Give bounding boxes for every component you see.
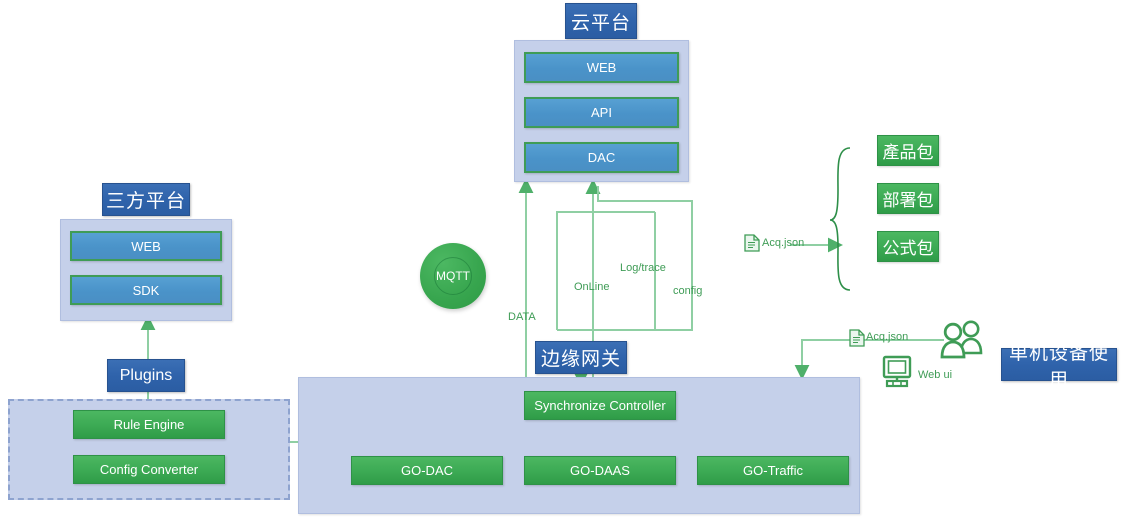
edge-gateway-title-label: 边缘网关 bbox=[541, 344, 621, 371]
edge-gateway-title[interactable]: 边缘网关 bbox=[535, 341, 627, 374]
cloud-platform-title-label: 云平台 bbox=[571, 8, 631, 35]
third-party-item-sdk[interactable]: SDK bbox=[70, 275, 222, 305]
plugins-item-config-converter[interactable]: Config Converter bbox=[73, 455, 225, 484]
package-brace bbox=[830, 148, 850, 290]
cloud-item-web[interactable]: WEB bbox=[524, 52, 679, 83]
package-formula-label: 公式包 bbox=[883, 234, 934, 259]
monitor-icon bbox=[880, 355, 914, 389]
cloud-item-api-label: API bbox=[591, 105, 612, 120]
edge-label-config: config bbox=[673, 285, 702, 297]
webui-label: Web ui bbox=[918, 369, 952, 381]
third-party-item-web[interactable]: WEB bbox=[70, 231, 222, 261]
edge-label-log-trace: Log/trace bbox=[620, 262, 666, 274]
wire-config bbox=[593, 186, 692, 330]
synchronize-controller-label: Synchronize Controller bbox=[534, 398, 666, 413]
mqtt-label: MQTT bbox=[436, 269, 470, 283]
cloud-item-api[interactable]: API bbox=[524, 97, 679, 128]
cloud-item-dac[interactable]: DAC bbox=[524, 142, 679, 173]
third-party-item-sdk-label: SDK bbox=[133, 283, 160, 298]
package-deploy-label: 部署包 bbox=[883, 186, 934, 211]
edge-label-data: DATA bbox=[508, 311, 536, 323]
plugins-title-label: Plugins bbox=[120, 367, 172, 385]
third-party-item-web-label: WEB bbox=[131, 239, 161, 254]
package-product[interactable]: 產品包 bbox=[877, 135, 939, 166]
cloud-platform-title[interactable]: 云平台 bbox=[565, 3, 637, 39]
package-product-label: 產品包 bbox=[883, 138, 934, 163]
edge-service-go-dac[interactable]: GO-DAC bbox=[351, 456, 503, 485]
edge-service-go-traffic[interactable]: GO-Traffic bbox=[697, 456, 849, 485]
acqjson-package-icon bbox=[744, 234, 760, 252]
package-formula[interactable]: 公式包 bbox=[877, 231, 939, 262]
edge-service-go-traffic-label: GO-Traffic bbox=[743, 463, 803, 478]
cloud-item-dac-label: DAC bbox=[588, 150, 615, 165]
synchronize-controller[interactable]: Synchronize Controller bbox=[524, 391, 676, 420]
third-party-title[interactable]: 三方平台 bbox=[102, 183, 190, 216]
users-icon bbox=[938, 320, 988, 360]
plugins-item-rule-engine-label: Rule Engine bbox=[114, 417, 185, 432]
plugins-title[interactable]: Plugins bbox=[107, 359, 185, 392]
acqjson-standalone-icon bbox=[849, 329, 865, 347]
edge-label-online: OnLine bbox=[574, 281, 609, 293]
standalone-usage-title-label: 单机设备使用 bbox=[1002, 338, 1116, 392]
third-party-title-label: 三方平台 bbox=[106, 186, 186, 213]
standalone-usage-title[interactable]: 单机设备使用 bbox=[1001, 348, 1117, 381]
acqjson-standalone-label: Acq.json bbox=[866, 331, 908, 343]
wire-online bbox=[557, 186, 593, 330]
edge-service-go-dac-label: GO-DAC bbox=[401, 463, 453, 478]
diagram-canvas: 云平台 WEB API DAC 三方平台 WEB SDK Plugins Rul… bbox=[0, 0, 1130, 519]
acqjson-package-label: Acq.json bbox=[762, 237, 804, 249]
edge-service-go-daas-label: GO-DAAS bbox=[570, 463, 630, 478]
plugins-item-rule-engine[interactable]: Rule Engine bbox=[73, 410, 225, 439]
package-deploy[interactable]: 部署包 bbox=[877, 183, 939, 214]
mqtt-node[interactable]: MQTT bbox=[420, 243, 486, 309]
plugins-item-config-converter-label: Config Converter bbox=[100, 462, 198, 477]
cloud-item-web-label: WEB bbox=[587, 60, 617, 75]
edge-service-go-daas[interactable]: GO-DAAS bbox=[524, 456, 676, 485]
